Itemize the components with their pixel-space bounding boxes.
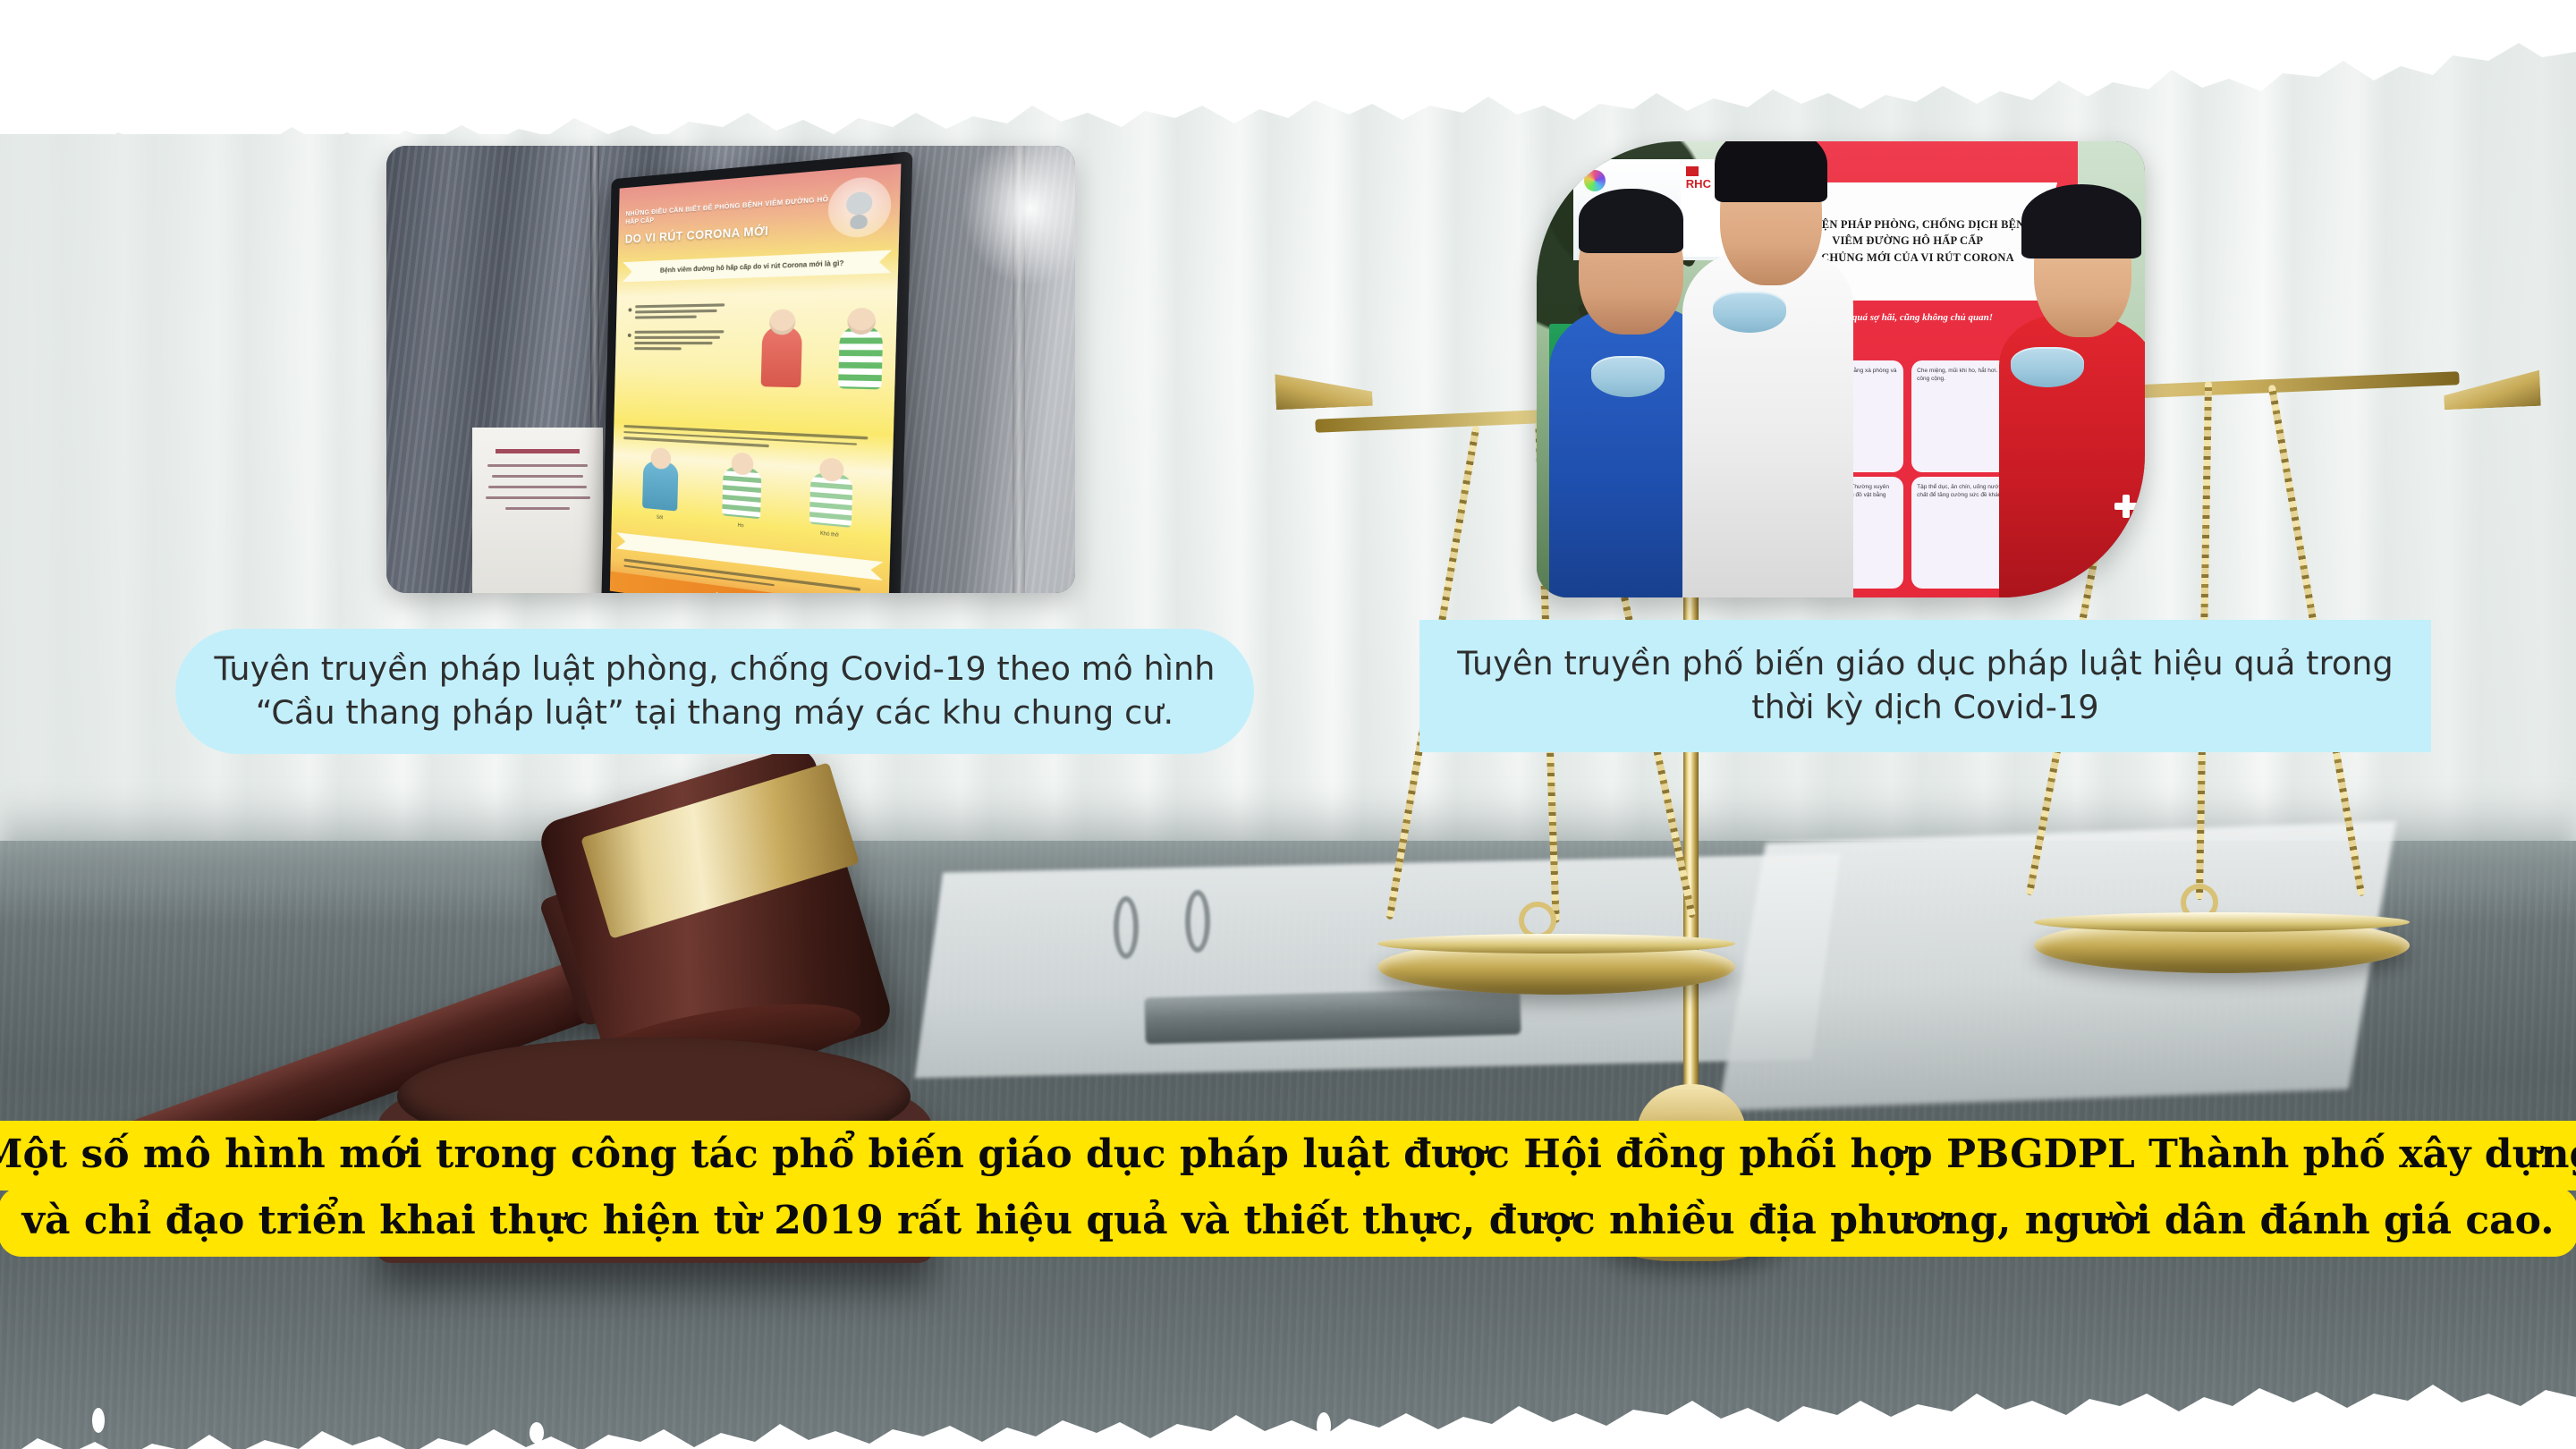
caption-booth-line-2: thời kỳ dịch Covid-19 <box>1751 686 2098 730</box>
poster-figure-boy <box>838 326 883 390</box>
symptom-icon-fever: Sốt <box>642 461 678 512</box>
poster-bullet-list <box>627 303 724 362</box>
summary-banner: Một số mô hình mới trong công tác phổ bi… <box>0 1121 2576 1257</box>
poster-figure-girl <box>761 326 802 387</box>
elevator-digital-screen[interactable]: NHỮNG ĐIỀU CẦN BIẾT ĐỂ PHÒNG BỆNH VIÊM Đ… <box>601 151 912 593</box>
face-mask-icon <box>1591 356 1665 397</box>
scale-pan-rim-right <box>2034 912 2410 932</box>
scale-pan-rim-left <box>1377 934 1735 953</box>
elevator-wall-seam <box>1013 146 1025 593</box>
photo-outdoor-covid-booth: CÁC BIỆN PHÁP PHÒNG, CHỐNG DỊCH BỆNH VIÊ… <box>1537 141 2145 597</box>
elevator-notice-sign <box>472 428 603 593</box>
notice-sign-title <box>496 449 580 453</box>
caption-booth: Tuyên truyền phố biến giáo dục pháp luật… <box>1419 620 2431 752</box>
symptom-icon-cough: Ho <box>722 466 761 519</box>
poster-symptom-icons: Sốt Ho Khó thở <box>622 459 878 530</box>
poster-ribbon-question: Bệnh viêm đường hô hấp cấp do vi rút Cor… <box>623 250 892 283</box>
clipboard-ring <box>1114 896 1139 959</box>
summary-banner-line-1: Một số mô hình mới trong công tác phổ bi… <box>0 1121 2576 1191</box>
red-banner-title-line-3: DO CHỦNG MỚI CỦA VI RÚT CORONA <box>1801 252 2014 265</box>
screen-poster: NHỮNG ĐIỀU CẦN BIẾT ĐỂ PHÒNG BỆNH VIÊM Đ… <box>610 164 902 593</box>
summary-banner-line-2: và chỉ đạo triển khai thực hiện từ 2019 … <box>0 1187 2576 1257</box>
caption-elevator-line-1: Tuyên truyền pháp luật phòng, chống Covi… <box>214 648 1215 691</box>
caption-elevator: Tuyên truyền pháp luật phòng, chống Covi… <box>175 629 1254 754</box>
caption-elevator-line-2: “Cầu thang pháp luật” tại thang máy các … <box>256 691 1174 735</box>
caption-booth-line-1: Tuyên truyền phố biến giáo dục pháp luật… <box>1457 642 2394 686</box>
red-cross-emblem-icon <box>2114 495 2138 518</box>
symptom-icon-breathless: Khó thở <box>809 471 852 527</box>
red-banner-title-line-2: VIÊM ĐƯỜNG HÔ HẤP CẤP <box>1832 235 1983 248</box>
clipboard-ring <box>1185 890 1210 953</box>
infographic-poster: NHỮNG ĐIỀU CẦN BIẾT ĐỂ PHÒNG BỆNH VIÊM Đ… <box>0 0 2576 1449</box>
poster-illustration-people <box>757 294 888 390</box>
booth-scene: CÁC BIỆN PHÁP PHÒNG, CHỐNG DỊCH BỆNH VIÊ… <box>1537 141 2145 597</box>
face-mask-icon <box>1713 292 1786 333</box>
photo-elevator-covid-screen: NHỮNG ĐIỀU CẦN BIẾT ĐỂ PHÒNG BỆNH VIÊM Đ… <box>386 146 1075 593</box>
